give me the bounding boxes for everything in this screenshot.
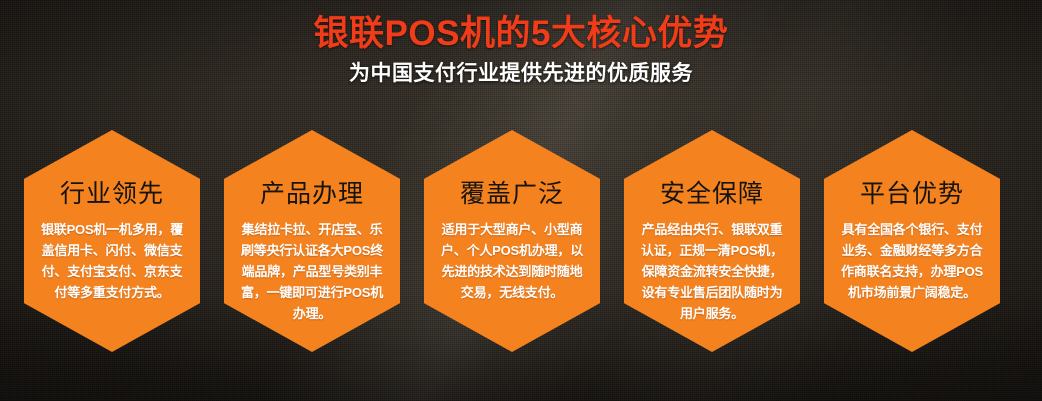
- advantage-title: 安全保障: [660, 182, 764, 207]
- advantage-hexagon-row: 行业领先 银联POS机一机多用，覆盖信用卡、闪付、微信支付、支付宝支付、京东支付…: [24, 130, 1018, 352]
- headline-block: 银联POS机的5大核心优势 为中国支付行业提供先进的优质服务: [0, 14, 1042, 86]
- advantage-description: 具有全国各个银行、支付业务、金融财经等多方合作商联名支持，办理POS机市场前景广…: [837, 219, 987, 303]
- promo-banner: 银联POS机的5大核心优势 为中国支付行业提供先进的优质服务 行业领先 银联PO…: [0, 0, 1042, 401]
- advantage-title: 覆盖广泛: [460, 182, 564, 207]
- page-subtitle: 为中国支付行业提供先进的优质服务: [0, 61, 1042, 86]
- advantage-hexagon-2[interactable]: 产品办理 集结拉卡拉、开店宝、乐刷等央行认证各大POS终端品牌，产品型号类别丰富…: [224, 130, 400, 352]
- advantage-hexagon-5[interactable]: 平台优势 具有全国各个银行、支付业务、金融财经等多方合作商联名支持，办理POS机…: [824, 130, 1000, 352]
- advantage-description: 适用于大型商户、小型商户、个人POS机办理，以先进的技术达到随时随地交易，无线支…: [437, 219, 587, 303]
- advantage-hexagon-1[interactable]: 行业领先 银联POS机一机多用，覆盖信用卡、闪付、微信支付、支付宝支付、京东支付…: [24, 130, 200, 352]
- advantage-description: 集结拉卡拉、开店宝、乐刷等央行认证各大POS终端品牌，产品型号类别丰富，一键即可…: [237, 219, 387, 324]
- advantage-title: 产品办理: [260, 182, 364, 207]
- advantage-description: 银联POS机一机多用，覆盖信用卡、闪付、微信支付、支付宝支付、京东支付等多重支付…: [37, 219, 187, 303]
- advantage-title: 平台优势: [860, 182, 964, 207]
- page-title: 银联POS机的5大核心优势: [0, 14, 1042, 54]
- advantage-description: 产品经由央行、银联双重认证，正规一清POS机，保障资金流转安全快捷，设有专业售后…: [637, 219, 787, 324]
- advantage-title: 行业领先: [60, 182, 164, 207]
- advantage-hexagon-3[interactable]: 覆盖广泛 适用于大型商户、小型商户、个人POS机办理，以先进的技术达到随时随地交…: [424, 130, 600, 352]
- advantage-hexagon-4[interactable]: 安全保障 产品经由央行、银联双重认证，正规一清POS机，保障资金流转安全快捷，设…: [624, 130, 800, 352]
